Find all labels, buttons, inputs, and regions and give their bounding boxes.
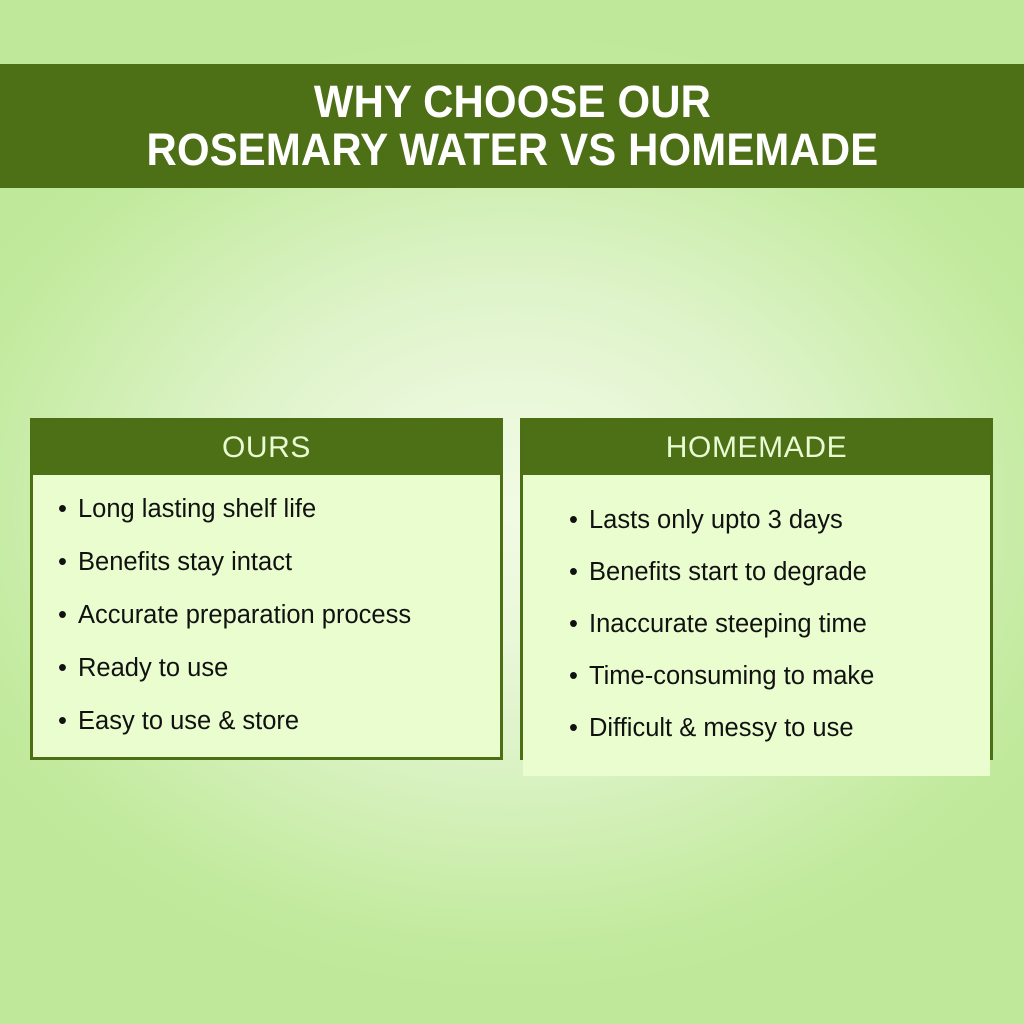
list-item: • Difficult & messy to use [568, 714, 980, 742]
list-item: • Ready to use [57, 654, 490, 682]
card-body-homemade: • Lasts only upto 3 days • Benefits star… [523, 475, 990, 776]
list-item: • Accurate preparation process [57, 601, 490, 629]
list-item-label: Long lasting shelf life [78, 495, 316, 523]
bullet-icon: • [569, 662, 578, 690]
card-title-homemade: HOMEMADE [666, 431, 847, 465]
drawback-list-homemade: • Lasts only upto 3 days • Benefits star… [568, 506, 980, 742]
bullet-icon: • [569, 506, 578, 534]
page-title: WHY CHOOSE OUR ROSEMARY WATER VS HOMEMAD… [146, 78, 878, 173]
bullet-icon: • [58, 707, 67, 735]
list-item-label: Easy to use & store [78, 707, 299, 735]
card-body-ours: • Long lasting shelf life • Benefits sta… [33, 475, 500, 757]
card-header-ours: OURS [30, 418, 503, 475]
list-item: • Benefits start to degrade [568, 558, 980, 586]
bullet-icon: • [58, 601, 67, 629]
list-item-label: Lasts only upto 3 days [589, 506, 843, 534]
bullet-icon: • [58, 548, 67, 576]
bullet-icon: • [569, 558, 578, 586]
bullet-icon: • [58, 654, 67, 682]
list-item-label: Benefits stay intact [78, 548, 292, 576]
list-item: • Long lasting shelf life [57, 495, 490, 523]
list-item: • Inaccurate steeping time [568, 610, 980, 638]
card-header-homemade: HOMEMADE [520, 418, 993, 475]
list-item-label: Benefits start to degrade [589, 558, 867, 586]
benefit-list-ours: • Long lasting shelf life • Benefits sta… [57, 495, 490, 735]
list-item-label: Accurate preparation process [78, 601, 411, 629]
comparison-columns: OURS • Long lasting shelf life • Benefit… [30, 418, 993, 760]
card-title-ours: OURS [222, 431, 311, 465]
comparison-infographic: WHY CHOOSE OUR ROSEMARY WATER VS HOMEMAD… [0, 0, 1024, 1024]
comparison-card-ours: OURS • Long lasting shelf life • Benefit… [30, 418, 503, 760]
bullet-icon: • [569, 610, 578, 638]
list-item-label: Time-consuming to make [589, 662, 874, 690]
bullet-icon: • [569, 714, 578, 742]
list-item: • Lasts only upto 3 days [568, 506, 980, 534]
list-item: • Benefits stay intact [57, 548, 490, 576]
list-item-label: Ready to use [78, 654, 228, 682]
list-item: • Time-consuming to make [568, 662, 980, 690]
list-item: • Easy to use & store [57, 707, 490, 735]
list-item-label: Difficult & messy to use [589, 714, 854, 742]
bullet-icon: • [58, 495, 67, 523]
comparison-card-homemade: HOMEMADE • Lasts only upto 3 days • Bene… [520, 418, 993, 760]
list-item-label: Inaccurate steeping time [589, 610, 867, 638]
title-banner: WHY CHOOSE OUR ROSEMARY WATER VS HOMEMAD… [0, 64, 1024, 188]
